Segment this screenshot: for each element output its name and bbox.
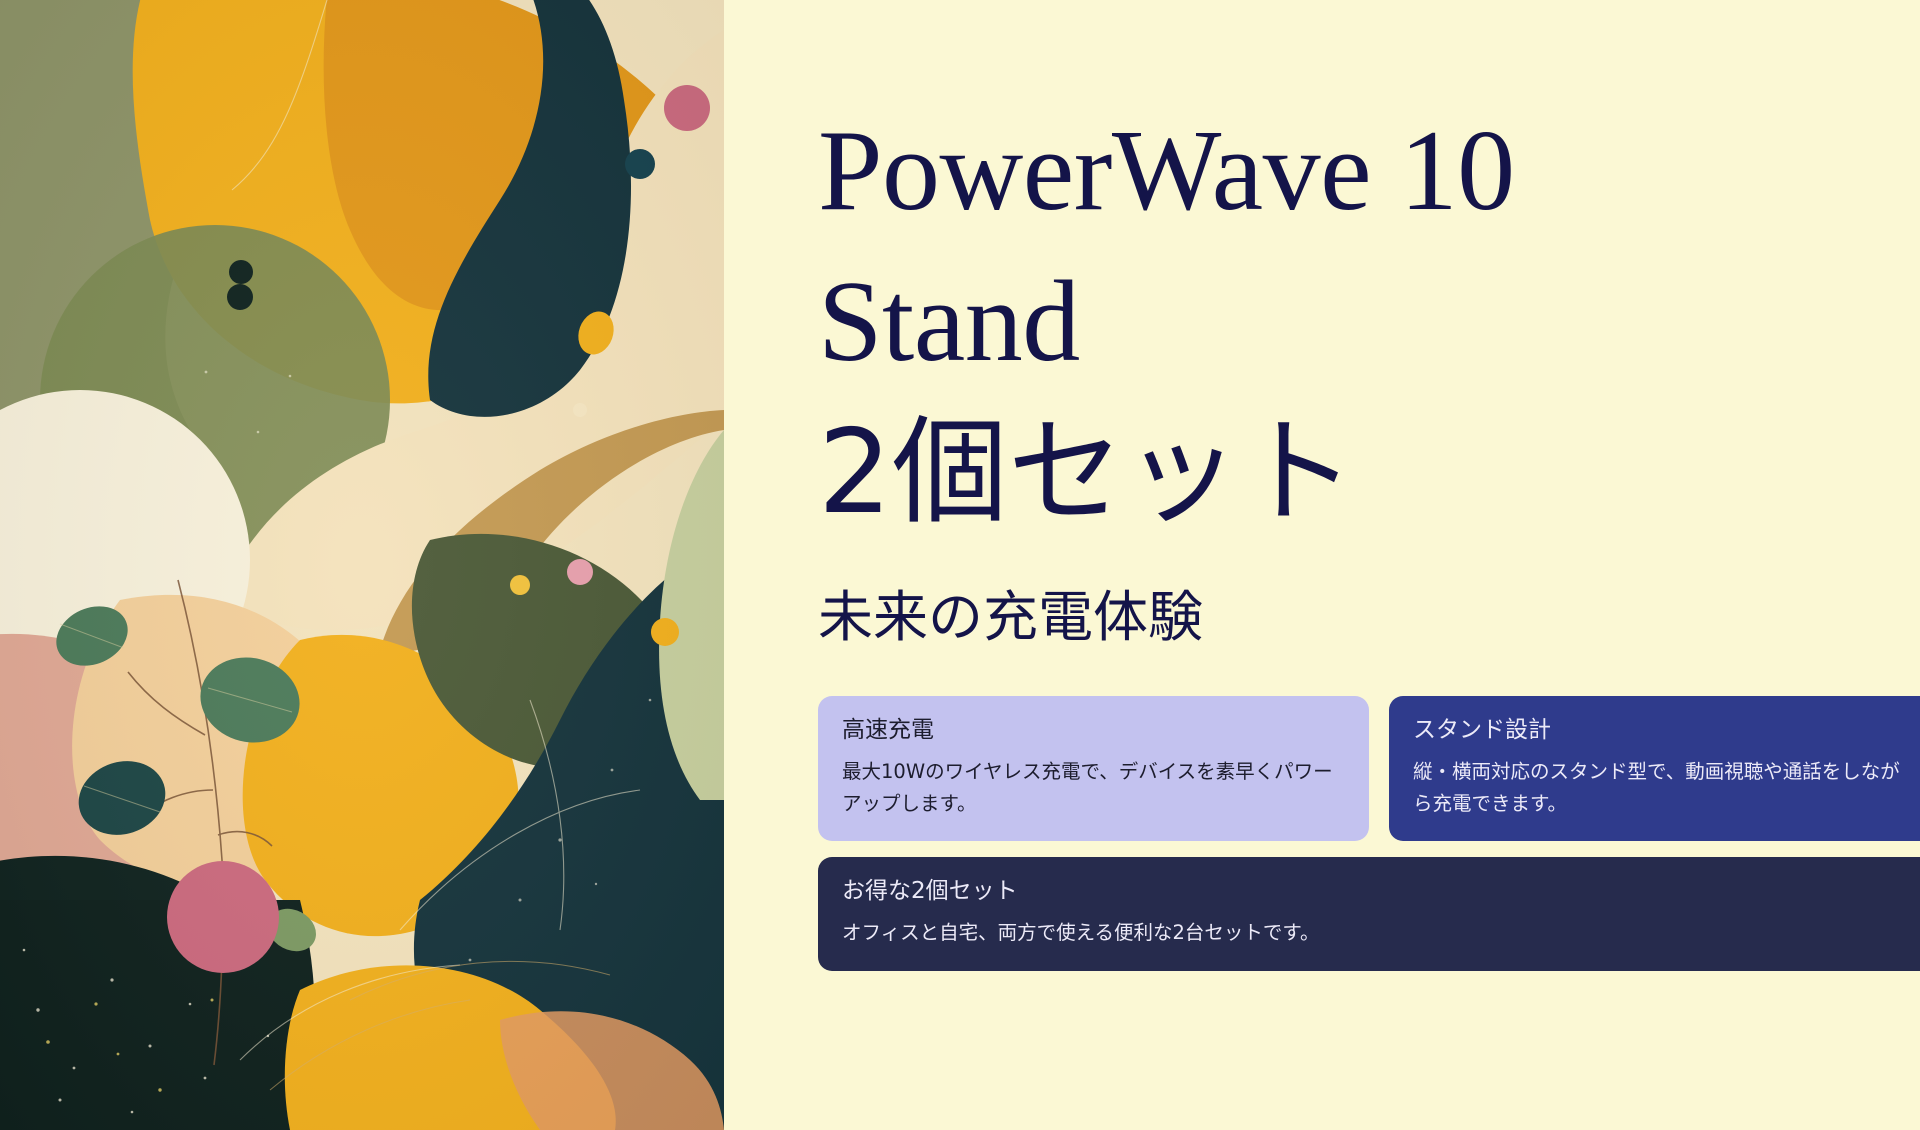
feature-card-body: 縦・横両対応のスタンド型で、動画視聴や通話をしながら充電できます。 bbox=[1413, 756, 1916, 819]
feature-card-value-two-pack: お得な2個セット オフィスと自宅、両方で使える便利な2台セットです。 bbox=[818, 857, 1920, 970]
content-panel: PowerWave 10 Stand 2個セット 未来の充電体験 高速充電 最大… bbox=[724, 0, 1920, 1130]
page-title: PowerWave 10 Stand 2個セット bbox=[818, 96, 1828, 549]
title-line-2: Stand bbox=[818, 258, 1080, 386]
feature-card-title: 高速充電 bbox=[842, 716, 1345, 746]
feature-card-list: 高速充電 最大10Wのワイヤレス充電で、デバイスを素早くパワーアップします。 ス… bbox=[818, 696, 1920, 971]
title-line-1: PowerWave 10 bbox=[818, 107, 1515, 235]
title-line-3: 2個セット bbox=[818, 405, 1356, 540]
artwork-panel bbox=[0, 0, 724, 1130]
feature-card-body: 最大10Wのワイヤレス充電で、デバイスを素早くパワーアップします。 bbox=[842, 756, 1345, 819]
feature-card-fast-charge: 高速充電 最大10Wのワイヤレス充電で、デバイスを素早くパワーアップします。 bbox=[818, 696, 1369, 841]
feature-card-title: スタンド設計 bbox=[1413, 716, 1916, 746]
feature-card-title: お得な2個セット bbox=[842, 877, 1916, 907]
feature-card-body: オフィスと自宅、両方で使える便利な2台セットです。 bbox=[842, 917, 1916, 949]
tagline: 未来の充電体験 bbox=[818, 583, 1920, 652]
product-hero-poster: PowerWave 10 Stand 2個セット 未来の充電体験 高速充電 最大… bbox=[0, 0, 1920, 1130]
feature-card-stand-design: スタンド設計 縦・横両対応のスタンド型で、動画視聴や通話をしながら充電できます。 bbox=[1389, 696, 1920, 841]
abstract-organic-shapes-illustration bbox=[0, 0, 724, 1130]
